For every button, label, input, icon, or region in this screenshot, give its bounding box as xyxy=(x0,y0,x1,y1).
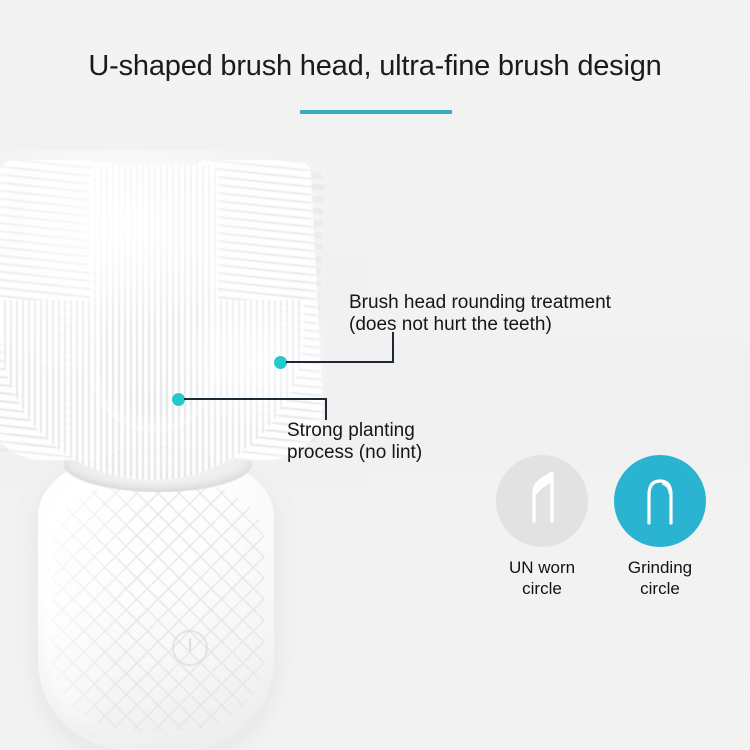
grinding-label-line2: circle xyxy=(614,578,706,599)
page-title: U-shaped brush head, ultra-fine brush de… xyxy=(0,48,750,84)
callout-label-rounding: Brush head rounding treatment (does not … xyxy=(349,292,611,336)
grinding-circle-label: Grinding circle xyxy=(614,557,706,599)
grinding-label-line1: Grinding xyxy=(614,557,706,578)
callout-rounding-line2: (does not hurt the teeth) xyxy=(349,314,611,336)
rounded-bristle-icon xyxy=(614,455,706,547)
badge-grinding-circle: Grinding circle xyxy=(614,455,706,599)
un-worn-circle-label: UN worn circle xyxy=(496,557,588,599)
callout-rounding-line1: Brush head rounding treatment xyxy=(349,292,611,314)
callout-leader-rounding-vertical xyxy=(392,332,394,363)
callout-leader-rounding-horizontal xyxy=(286,361,394,363)
power-button-icon xyxy=(172,630,208,666)
angled-cut-bristle-icon xyxy=(496,455,588,547)
title-underline-rule xyxy=(300,110,452,114)
grinding-circle-background xyxy=(614,455,706,547)
un-worn-circle-background xyxy=(496,455,588,547)
callout-leader-planting-vertical xyxy=(325,398,327,420)
handle-highlight xyxy=(42,462,162,732)
un-worn-label-line2: circle xyxy=(496,578,588,599)
un-worn-label-line1: UN worn xyxy=(496,557,588,578)
callout-planting-line2: process (no lint) xyxy=(287,442,422,464)
badge-un-worn-circle: UN worn circle xyxy=(496,455,588,599)
callout-leader-planting-horizontal xyxy=(184,398,327,400)
brush-inner-channel xyxy=(90,164,218,432)
callout-planting-line1: Strong planting xyxy=(287,420,422,442)
infographic-page: U-shaped brush head, ultra-fine brush de… xyxy=(0,0,750,750)
callout-label-planting: Strong planting process (no lint) xyxy=(287,420,422,464)
bristle-comparison-group: UN worn circle Grinding circle xyxy=(486,455,726,605)
